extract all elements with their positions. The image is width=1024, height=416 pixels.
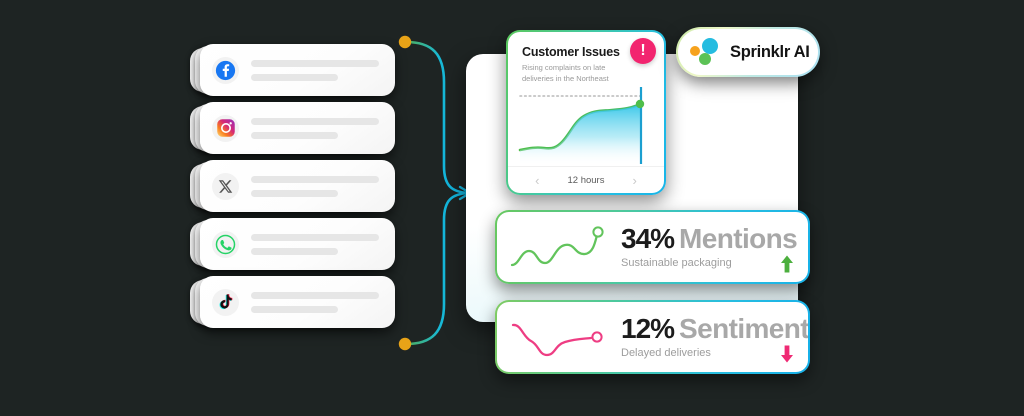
- placeholder-line: [251, 60, 379, 67]
- issues-range-footer: ‹ 12 hours ›: [508, 166, 664, 193]
- social-feed-list: [190, 44, 395, 354]
- metric-value: 34%: [621, 223, 674, 254]
- placeholder-lines: [251, 234, 383, 255]
- placeholder-line: [251, 132, 338, 139]
- metric-card-sentiment[interactable]: 12%Sentiment Delayed deliveries: [495, 300, 810, 374]
- page-title: Customer Issues: [522, 45, 620, 59]
- arrow-down-icon: [780, 344, 794, 364]
- connector-path-bottom: [406, 193, 468, 344]
- avatar: [212, 231, 239, 258]
- chart-area-fill: [520, 104, 640, 164]
- sparkline-endpoint-icon: [593, 227, 602, 236]
- logo-dot-green: [699, 53, 711, 65]
- metric-card-mentions[interactable]: 34%Mentions Sustainable packaging: [495, 210, 810, 284]
- placeholder-line: [251, 190, 338, 197]
- placeholder-lines: [251, 60, 383, 81]
- customer-issues-card[interactable]: Customer Issues Rising complaints on lat…: [506, 30, 666, 195]
- sparkline-path: [513, 325, 591, 355]
- issues-range-label: 12 hours: [568, 175, 605, 186]
- issues-subtitle: Rising complaints on late deliveries in …: [522, 63, 630, 85]
- alert-glyph: !: [640, 43, 645, 59]
- avatar: [212, 57, 239, 84]
- connector-node-icon: [399, 36, 411, 48]
- list-item[interactable]: [190, 44, 395, 98]
- placeholder-line: [251, 292, 379, 299]
- brand-name: Sprinklr AI: [730, 43, 810, 62]
- logo-dot-cyan: [702, 38, 718, 54]
- avatar: [212, 115, 239, 142]
- placeholder-lines: [251, 118, 383, 139]
- alert-exclamation-icon: !: [630, 38, 656, 64]
- social-card-whatsapp[interactable]: [200, 218, 395, 270]
- social-card-tiktok[interactable]: [200, 276, 395, 328]
- illustration-canvas: Customer Issues Rising complaints on lat…: [0, 0, 1024, 416]
- placeholder-line: [251, 234, 379, 241]
- tiktok-icon: [217, 293, 235, 311]
- whatsapp-icon: [215, 234, 236, 255]
- metric-label: Mentions: [679, 223, 797, 254]
- chevron-left-icon[interactable]: ‹: [535, 174, 539, 187]
- social-card-x-twitter[interactable]: [200, 160, 395, 212]
- list-item[interactable]: [190, 160, 395, 214]
- x-twitter-icon: [218, 179, 233, 194]
- logo-dot-orange: [690, 46, 700, 56]
- social-card-instagram[interactable]: [200, 102, 395, 154]
- sentiment-sparkline: [507, 311, 617, 363]
- metric-headline: 12%Sentiment: [621, 315, 808, 343]
- chart-endpoint-marker: [636, 100, 644, 108]
- placeholder-line: [251, 74, 338, 81]
- sparkline-endpoint-icon: [592, 332, 601, 341]
- placeholder-lines: [251, 292, 383, 313]
- connector-path-top: [406, 42, 468, 193]
- placeholder-line: [251, 176, 379, 183]
- instagram-icon: [216, 118, 236, 138]
- metric-text-block: 34%Mentions Sustainable packaging: [617, 225, 798, 269]
- metric-description: Sustainable packaging: [621, 257, 798, 269]
- placeholder-line: [251, 248, 338, 255]
- list-item[interactable]: [190, 218, 395, 272]
- metric-headline: 34%Mentions: [621, 225, 798, 253]
- issues-area-chart: [514, 84, 662, 166]
- sprinklr-logo-icon: [690, 37, 724, 67]
- list-item[interactable]: [190, 276, 395, 330]
- avatar: [212, 289, 239, 316]
- list-item[interactable]: [190, 102, 395, 156]
- chevron-right-icon[interactable]: ›: [632, 174, 636, 187]
- connector-node-icon: [399, 338, 411, 350]
- placeholder-lines: [251, 176, 383, 197]
- avatar: [212, 173, 239, 200]
- mentions-sparkline: [507, 221, 617, 273]
- metric-label: Sentiment: [679, 313, 808, 344]
- sprinklr-ai-badge[interactable]: Sprinklr AI: [676, 27, 820, 77]
- placeholder-line: [251, 306, 338, 313]
- metric-value: 12%: [621, 313, 674, 344]
- social-card-facebook[interactable]: [200, 44, 395, 96]
- arrow-up-icon: [780, 254, 794, 274]
- facebook-icon: [215, 60, 236, 81]
- sparkline-path: [512, 235, 597, 265]
- placeholder-line: [251, 118, 379, 125]
